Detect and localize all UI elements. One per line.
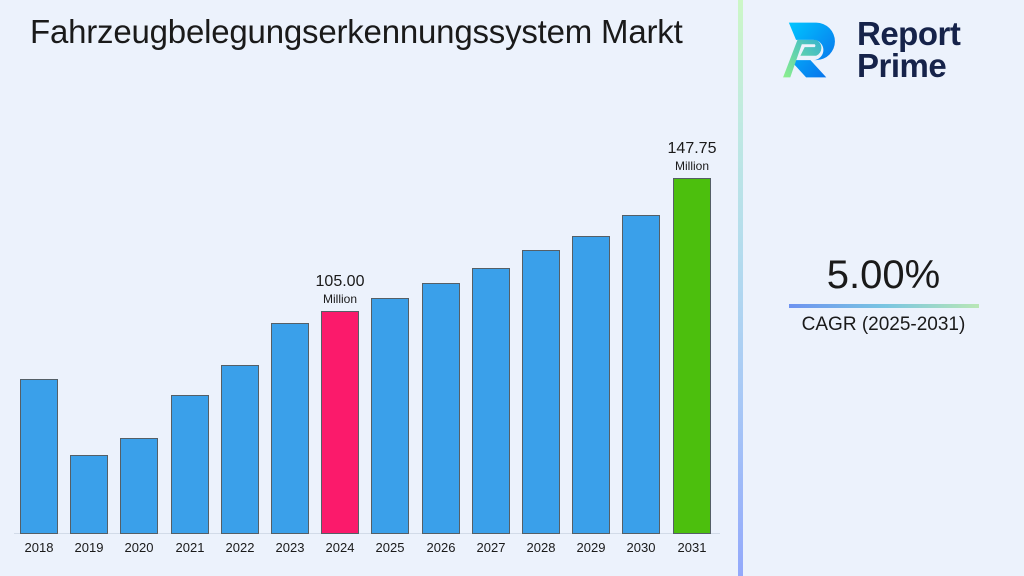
bar-2029[interactable] bbox=[572, 236, 610, 534]
bar-rect-2019[interactable] bbox=[70, 455, 108, 534]
bar-2026[interactable] bbox=[422, 283, 460, 534]
x-tick-2025: 2025 bbox=[371, 540, 409, 555]
bar-2022[interactable] bbox=[221, 365, 259, 534]
bar-2018[interactable] bbox=[20, 379, 58, 534]
brand-name-line1: Report bbox=[857, 18, 960, 50]
x-tick-2018: 2018 bbox=[20, 540, 58, 555]
bar-rect-2028[interactable] bbox=[522, 250, 560, 534]
bar-2031[interactable]: 147.75Million bbox=[673, 178, 711, 534]
x-tick-2020: 2020 bbox=[120, 540, 158, 555]
bar-rect-2027[interactable] bbox=[472, 268, 510, 534]
bar-2021[interactable] bbox=[171, 395, 209, 534]
bar-rect-2025[interactable] bbox=[371, 298, 409, 534]
x-tick-2022: 2022 bbox=[221, 540, 259, 555]
bar-rect-2020[interactable] bbox=[120, 438, 158, 534]
bar-rect-2021[interactable] bbox=[171, 395, 209, 534]
bar-value-label-2031: 147.75Million bbox=[668, 140, 717, 174]
brand-name: Report Prime bbox=[857, 18, 960, 83]
report-prime-logo[interactable]: Report Prime bbox=[773, 14, 960, 86]
cagr-value: 5.00% bbox=[743, 252, 1024, 298]
bar-2023[interactable] bbox=[271, 323, 309, 534]
bar-2028[interactable] bbox=[522, 250, 560, 534]
bar-2027[interactable] bbox=[472, 268, 510, 534]
bar-chart: 105.00Million147.75Million 2018201920202… bbox=[0, 0, 738, 576]
bar-value-label-2024: 105.00Million bbox=[316, 273, 365, 307]
x-tick-2019: 2019 bbox=[70, 540, 108, 555]
bar-rect-2018[interactable] bbox=[20, 379, 58, 534]
x-tick-2026: 2026 bbox=[422, 540, 460, 555]
cagr-block: 5.00% CAGR (2025-2031) bbox=[743, 252, 1024, 338]
bar-2024[interactable]: 105.00Million bbox=[321, 311, 359, 534]
info-panel: Report Prime 5.00% CAGR (2025-2031) bbox=[743, 0, 1024, 576]
bar-rect-2029[interactable] bbox=[572, 236, 610, 534]
x-tick-2021: 2021 bbox=[171, 540, 209, 555]
x-tick-2030: 2030 bbox=[622, 540, 660, 555]
x-tick-2024: 2024 bbox=[321, 540, 359, 555]
bar-2030[interactable] bbox=[622, 215, 660, 534]
cagr-divider-rule bbox=[789, 304, 979, 308]
x-tick-2028: 2028 bbox=[522, 540, 560, 555]
report-prime-logo-icon bbox=[773, 14, 845, 86]
bar-value-unit-2031: Million bbox=[668, 158, 717, 174]
chart-panel: Fahrzeugbelegungserkennungssystem Markt … bbox=[0, 0, 738, 576]
bar-rect-2023[interactable] bbox=[271, 323, 309, 534]
page-root: Fahrzeugbelegungserkennungssystem Markt … bbox=[0, 0, 1024, 576]
cagr-label: CAGR (2025-2031) bbox=[743, 312, 1024, 338]
x-tick-2027: 2027 bbox=[472, 540, 510, 555]
bar-2019[interactable] bbox=[70, 455, 108, 534]
bar-rect-2024[interactable] bbox=[321, 311, 359, 534]
x-tick-2031: 2031 bbox=[673, 540, 711, 555]
x-tick-2029: 2029 bbox=[572, 540, 610, 555]
bar-value-number-2031: 147.75 bbox=[668, 140, 717, 158]
bar-rect-2031[interactable] bbox=[673, 178, 711, 534]
bar-value-number-2024: 105.00 bbox=[316, 273, 365, 291]
bar-rect-2030[interactable] bbox=[622, 215, 660, 534]
brand-name-line2: Prime bbox=[857, 50, 960, 82]
bar-value-unit-2024: Million bbox=[316, 291, 365, 307]
x-tick-2023: 2023 bbox=[271, 540, 309, 555]
bar-2020[interactable] bbox=[120, 438, 158, 534]
bar-rect-2026[interactable] bbox=[422, 283, 460, 534]
bar-rect-2022[interactable] bbox=[221, 365, 259, 534]
bar-2025[interactable] bbox=[371, 298, 409, 534]
